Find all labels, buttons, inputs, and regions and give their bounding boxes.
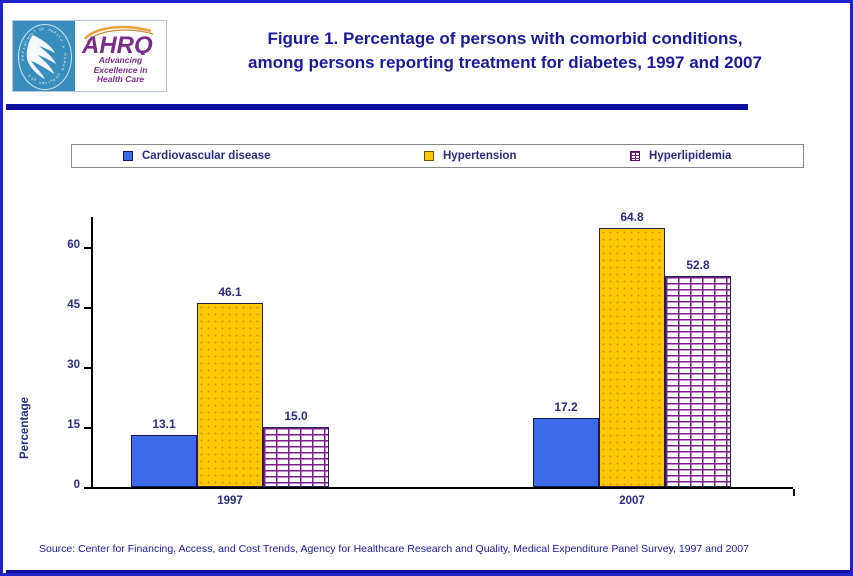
footer-divider (6, 570, 853, 573)
bar-value-label: 13.1 (152, 417, 175, 431)
bar: 17.2 (533, 418, 599, 487)
bar: 15.0 (263, 427, 329, 487)
y-axis-tick-mark (84, 307, 91, 309)
bar-chart: Percentage 015304560 13.146.115.017.264.… (3, 173, 850, 523)
legend-label: Cardiovascular disease (142, 150, 271, 162)
y-axis-tick-label: 0 (74, 479, 80, 491)
legend-label: Hypertension (443, 150, 517, 162)
ahrq-logo: DEPARTMENT OF HEALTH & HUMAN SERVICES US… (12, 20, 167, 92)
y-axis-tick-mark (84, 367, 91, 369)
ahrq-wordmark-icon: AHRQ (75, 25, 166, 55)
source-note: Source: Center for Financing, Access, an… (39, 542, 829, 556)
y-axis-tick-label: 60 (67, 239, 80, 251)
y-axis-tick-mark (84, 487, 91, 489)
legend-item-hypertension: Hypertension (424, 148, 517, 164)
plot-area: 015304560 13.146.115.017.264.852.8 19972… (91, 217, 793, 487)
bar-value-label: 52.8 (686, 258, 709, 272)
ahrq-wordmark-block: AHRQ Advancing Excellence in Health Care (75, 21, 166, 91)
page-header: DEPARTMENT OF HEALTH & HUMAN SERVICES US… (3, 3, 850, 98)
page-title: Figure 1. Percentage of persons with com… (175, 27, 835, 75)
x-axis-end-tick (793, 489, 795, 496)
y-axis-tick-mark (84, 247, 91, 249)
bar: 46.1 (197, 303, 263, 487)
y-axis-tick-label: 45 (67, 299, 80, 311)
bar: 52.8 (665, 276, 731, 487)
y-axis-tick-label: 15 (67, 419, 80, 431)
x-axis-category-label: 2007 (619, 495, 645, 507)
figure-page: DEPARTMENT OF HEALTH & HUMAN SERVICES US… (0, 0, 853, 576)
page-title-line2: among persons reporting treatment for di… (175, 51, 835, 75)
seal-text: DEPARTMENT OF HEALTH & HUMAN SERVICES US… (18, 24, 70, 88)
legend-item-hyperlipidemia: Hyperlipidemia (630, 148, 731, 164)
y-axis-tick-mark (84, 427, 91, 429)
bar: 64.8 (599, 228, 665, 487)
y-axis-line (91, 217, 93, 487)
x-axis-line (91, 487, 793, 489)
ahrq-tagline-line3: Health Care (75, 75, 166, 85)
bar: 13.1 (131, 435, 197, 487)
blue-square-icon (123, 151, 133, 161)
y-axis-tick-label: 30 (67, 359, 80, 371)
bar-value-label: 46.1 (218, 285, 241, 299)
x-axis-category-label: 1997 (217, 495, 243, 507)
svg-text:AHRQ: AHRQ (81, 32, 153, 55)
bar-value-label: 15.0 (284, 409, 307, 423)
chart-legend: Cardiovascular disease Hypertension Hype… (71, 144, 804, 168)
bar-value-label: 64.8 (620, 210, 643, 224)
legend-label: Hyperlipidemia (649, 150, 731, 162)
yellow-square-icon (424, 151, 434, 161)
hhs-seal-icon: DEPARTMENT OF HEALTH & HUMAN SERVICES US… (13, 21, 75, 91)
legend-item-cardiovascular-disease: Cardiovascular disease (123, 148, 271, 164)
y-axis-label: Percentage (19, 443, 31, 459)
page-title-line1: Figure 1. Percentage of persons with com… (175, 27, 835, 51)
brick-pattern-square-icon (630, 151, 640, 161)
ahrq-tagline: Advancing Excellence in Health Care (75, 56, 166, 85)
bar-value-label: 17.2 (554, 400, 577, 414)
header-divider (6, 104, 748, 110)
